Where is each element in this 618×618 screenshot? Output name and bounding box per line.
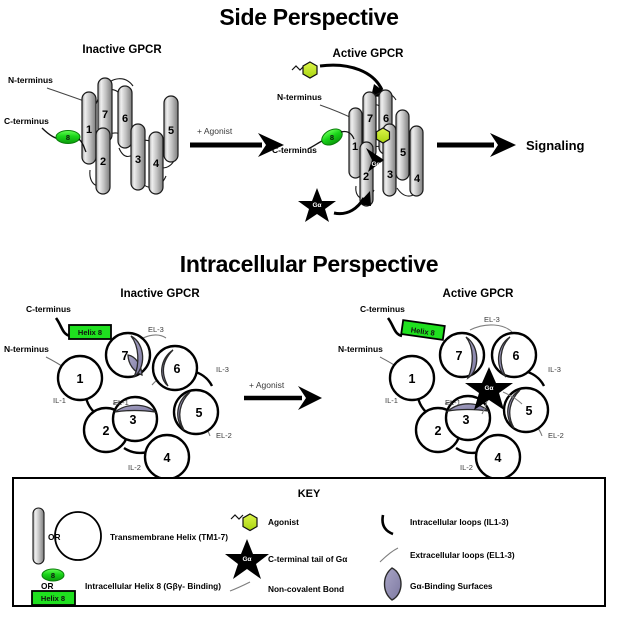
svg-text:4: 4 (153, 158, 160, 170)
svg-text:Gα: Gα (371, 161, 380, 168)
key-helix8-label: Intracellular Helix 8 (Gβγ- Binding) (85, 581, 221, 591)
key-or-label-2: OR (41, 581, 53, 591)
svg-text:Gα: Gα (484, 385, 493, 392)
svg-text:Helix 8: Helix 8 (41, 594, 65, 603)
svg-text:IL-2: IL-2 (460, 463, 473, 472)
intra-inactive-caption: Inactive GPCR (120, 288, 200, 300)
svg-text:1: 1 (409, 372, 416, 386)
side-active-agonist-arrow (320, 65, 382, 90)
side-active-c-terminus-label: C-terminus (272, 145, 317, 155)
svg-text:7: 7 (122, 349, 129, 363)
side-active-galpha-star: Gα (298, 188, 336, 222)
key-agonist-label: Agonist (268, 517, 299, 527)
svg-text:8: 8 (330, 133, 334, 142)
svg-text:IL-2: IL-2 (128, 463, 141, 472)
figure-canvas: Side Perspective Inactive GPCR N-terminu… (0, 0, 618, 618)
intra-active-c-terminus-label: C-terminus (360, 304, 405, 314)
side-inactive-helix8: 8 (56, 131, 80, 144)
svg-text:Helix 8: Helix 8 (78, 328, 102, 337)
svg-text:5: 5 (168, 125, 174, 137)
intra-inactive-helix8: Helix 8 (69, 325, 111, 339)
side-inactive-c-terminus-label: C-terminus (4, 116, 49, 126)
svg-text:IL-3: IL-3 (216, 365, 229, 374)
intra-inactive-n-terminus-label: N-terminus (4, 344, 49, 354)
intra-active-n-terminus-label: N-terminus (338, 344, 383, 354)
side-active-helix-4 (410, 126, 423, 196)
figure-root: Side Perspective Inactive GPCR N-terminu… (0, 0, 618, 618)
key-or-label-1: OR (48, 532, 60, 542)
svg-text:IL-1: IL-1 (53, 396, 66, 405)
intra-agonist-arrow-label: + Agonist (249, 380, 285, 390)
svg-text:6: 6 (122, 113, 128, 125)
intra-active-c-terminus-line (388, 318, 402, 336)
side-inactive-caption: Inactive GPCR (82, 44, 162, 56)
key-transmembrane-helix-icon (33, 508, 101, 564)
side-active-agonist-bound (377, 128, 390, 143)
key-extracellular-loops-label: Extracellular loops (EL1-3) (410, 550, 515, 560)
intra-inactive-c-terminus-line (56, 318, 70, 336)
svg-text:EL-2: EL-2 (216, 431, 232, 440)
svg-text:2: 2 (100, 156, 106, 168)
svg-text:5: 5 (196, 406, 203, 420)
svg-text:7: 7 (456, 349, 463, 363)
key-galpha-binding-surfaces-icon (385, 568, 402, 600)
svg-text:7: 7 (367, 113, 373, 125)
svg-text:EL-1: EL-1 (113, 398, 129, 407)
svg-text:2: 2 (363, 171, 369, 183)
side-active-caption: Active GPCR (333, 48, 405, 60)
svg-text:EL-3: EL-3 (148, 325, 164, 334)
svg-text:7: 7 (102, 109, 108, 121)
side-agonist-arrow-label: + Agonist (197, 126, 233, 136)
svg-text:Gα: Gα (242, 556, 251, 563)
intra-active-helix8: Helix 8 (401, 320, 445, 340)
svg-text:1: 1 (352, 141, 358, 153)
side-inactive-helices (82, 78, 178, 194)
svg-text:6: 6 (174, 362, 181, 376)
svg-text:EL-2: EL-2 (548, 431, 564, 440)
key-intracellular-loops-label: Intracellular loops (IL1-3) (410, 517, 509, 527)
side-inactive-n-terminus-label: N-terminus (8, 75, 53, 85)
svg-text:6: 6 (383, 113, 389, 125)
key-noncovalent-bond-label: Non-covalent Bond (268, 584, 344, 594)
svg-text:1: 1 (77, 372, 84, 386)
side-perspective-title: Side Perspective (219, 4, 398, 30)
side-active-helices (349, 90, 423, 206)
svg-text:3: 3 (387, 169, 393, 181)
svg-text:IL-1: IL-1 (385, 396, 398, 405)
intracellular-perspective-title: Intracellular Perspective (180, 251, 438, 277)
side-agonist-arrow (190, 133, 284, 157)
svg-text:4: 4 (495, 451, 502, 465)
svg-text:1: 1 (86, 124, 92, 136)
svg-text:IL-3: IL-3 (548, 365, 561, 374)
side-active-helix8: 8 (319, 126, 345, 149)
side-active-agonist-free (292, 62, 317, 78)
key-galpha-tail-label: C-terminal tail of Gα (268, 554, 348, 564)
key-title: KEY (298, 488, 321, 500)
side-active-n-terminus-label: N-terminus (277, 92, 322, 102)
svg-text:6: 6 (513, 349, 520, 363)
signaling-label: Signaling (526, 138, 585, 153)
svg-text:2: 2 (435, 424, 442, 438)
intra-inactive-c-terminus-label: C-terminus (26, 304, 71, 314)
svg-text:8: 8 (66, 133, 70, 142)
intra-active-helices (390, 333, 548, 479)
svg-text:2: 2 (103, 424, 110, 438)
svg-text:3: 3 (463, 413, 470, 427)
svg-text:5: 5 (400, 147, 406, 159)
svg-text:8: 8 (51, 571, 55, 580)
svg-text:Gα: Gα (312, 202, 321, 209)
intra-active-caption: Active GPCR (443, 288, 515, 300)
key-galpha-binding-surfaces-label: Gα-Binding Surfaces (410, 581, 493, 591)
svg-text:EL-3: EL-3 (484, 315, 500, 324)
svg-text:5: 5 (526, 404, 533, 418)
side-active-helix-5 (396, 110, 409, 180)
svg-text:4: 4 (164, 451, 171, 465)
svg-text:3: 3 (135, 154, 141, 166)
intra-inactive-helices (58, 333, 218, 479)
key-transmembrane-helix-label: Transmembrane Helix (TM1-7) (110, 532, 228, 542)
svg-text:3: 3 (130, 413, 137, 427)
side-signaling-arrow (437, 133, 516, 157)
svg-text:4: 4 (414, 173, 421, 185)
svg-text:EL-1: EL-1 (445, 398, 461, 407)
